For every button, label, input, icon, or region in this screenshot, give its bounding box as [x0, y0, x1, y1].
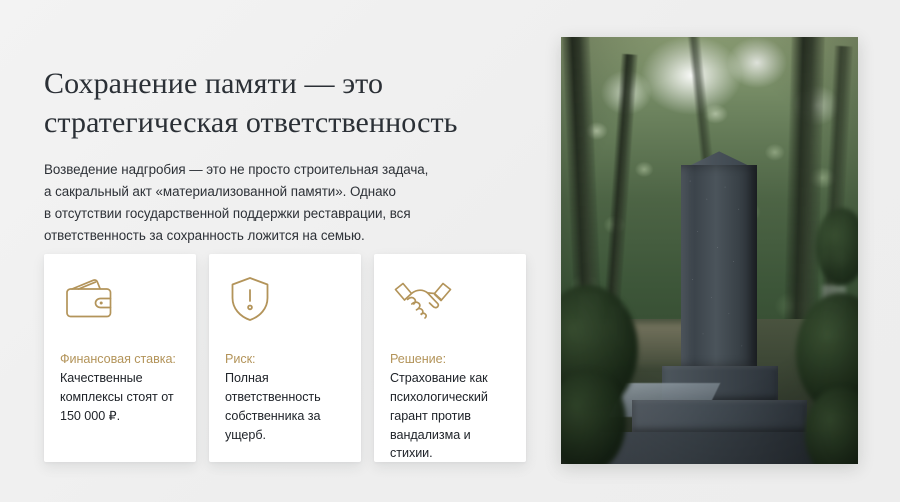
handshake-icon [390, 270, 510, 328]
photo-vignette [561, 37, 858, 464]
feature-card-body: Риск: Полная ответственность собственник… [225, 350, 345, 444]
shield-alert-icon [225, 270, 345, 328]
feature-card-label: Решение: [390, 350, 510, 369]
feature-card-text: Полная ответственность собственника за у… [225, 369, 345, 445]
feature-card-solution[interactable]: Решение: Страхование как психологический… [374, 254, 526, 462]
page-title: Сохранение памяти — это стратегическая о… [44, 64, 524, 142]
intro-line-4: ответственность за сохранность ложится н… [44, 225, 496, 247]
slide-root: Сохранение памяти — это стратегическая о… [0, 0, 900, 502]
feature-card-label: Финансовая ставка: [60, 350, 180, 369]
intro-line-1: Возведение надгробия — это не просто стр… [44, 159, 496, 181]
page-title-line-2: стратегическая ответственность [44, 103, 524, 142]
wallet-icon [60, 270, 180, 328]
intro-line-2: а сакральный акт «материализованной памя… [44, 181, 496, 203]
page-title-line-1: Сохранение памяти — это [44, 67, 383, 100]
feature-card-text: Качественные комплексы стоят от 150 000 … [60, 369, 180, 426]
feature-card-risk[interactable]: Риск: Полная ответственность собственник… [209, 254, 361, 462]
feature-card-body: Финансовая ставка: Качественные комплекс… [60, 350, 180, 426]
feature-card-text: Страхование как психологический гарант п… [390, 369, 510, 463]
feature-card-body: Решение: Страхование как психологический… [390, 350, 510, 463]
intro-line-3: в отсутствии государственной поддержки р… [44, 203, 496, 225]
intro-paragraph: Возведение надгробия — это не просто стр… [44, 159, 496, 246]
monument-photo [561, 37, 858, 464]
feature-card-list: Финансовая ставка: Качественные комплекс… [44, 254, 530, 464]
content-column: Сохранение памяти — это стратегическая о… [44, 0, 524, 502]
feature-card-label: Риск: [225, 350, 345, 369]
feature-card-financial-stake[interactable]: Финансовая ставка: Качественные комплекс… [44, 254, 196, 462]
